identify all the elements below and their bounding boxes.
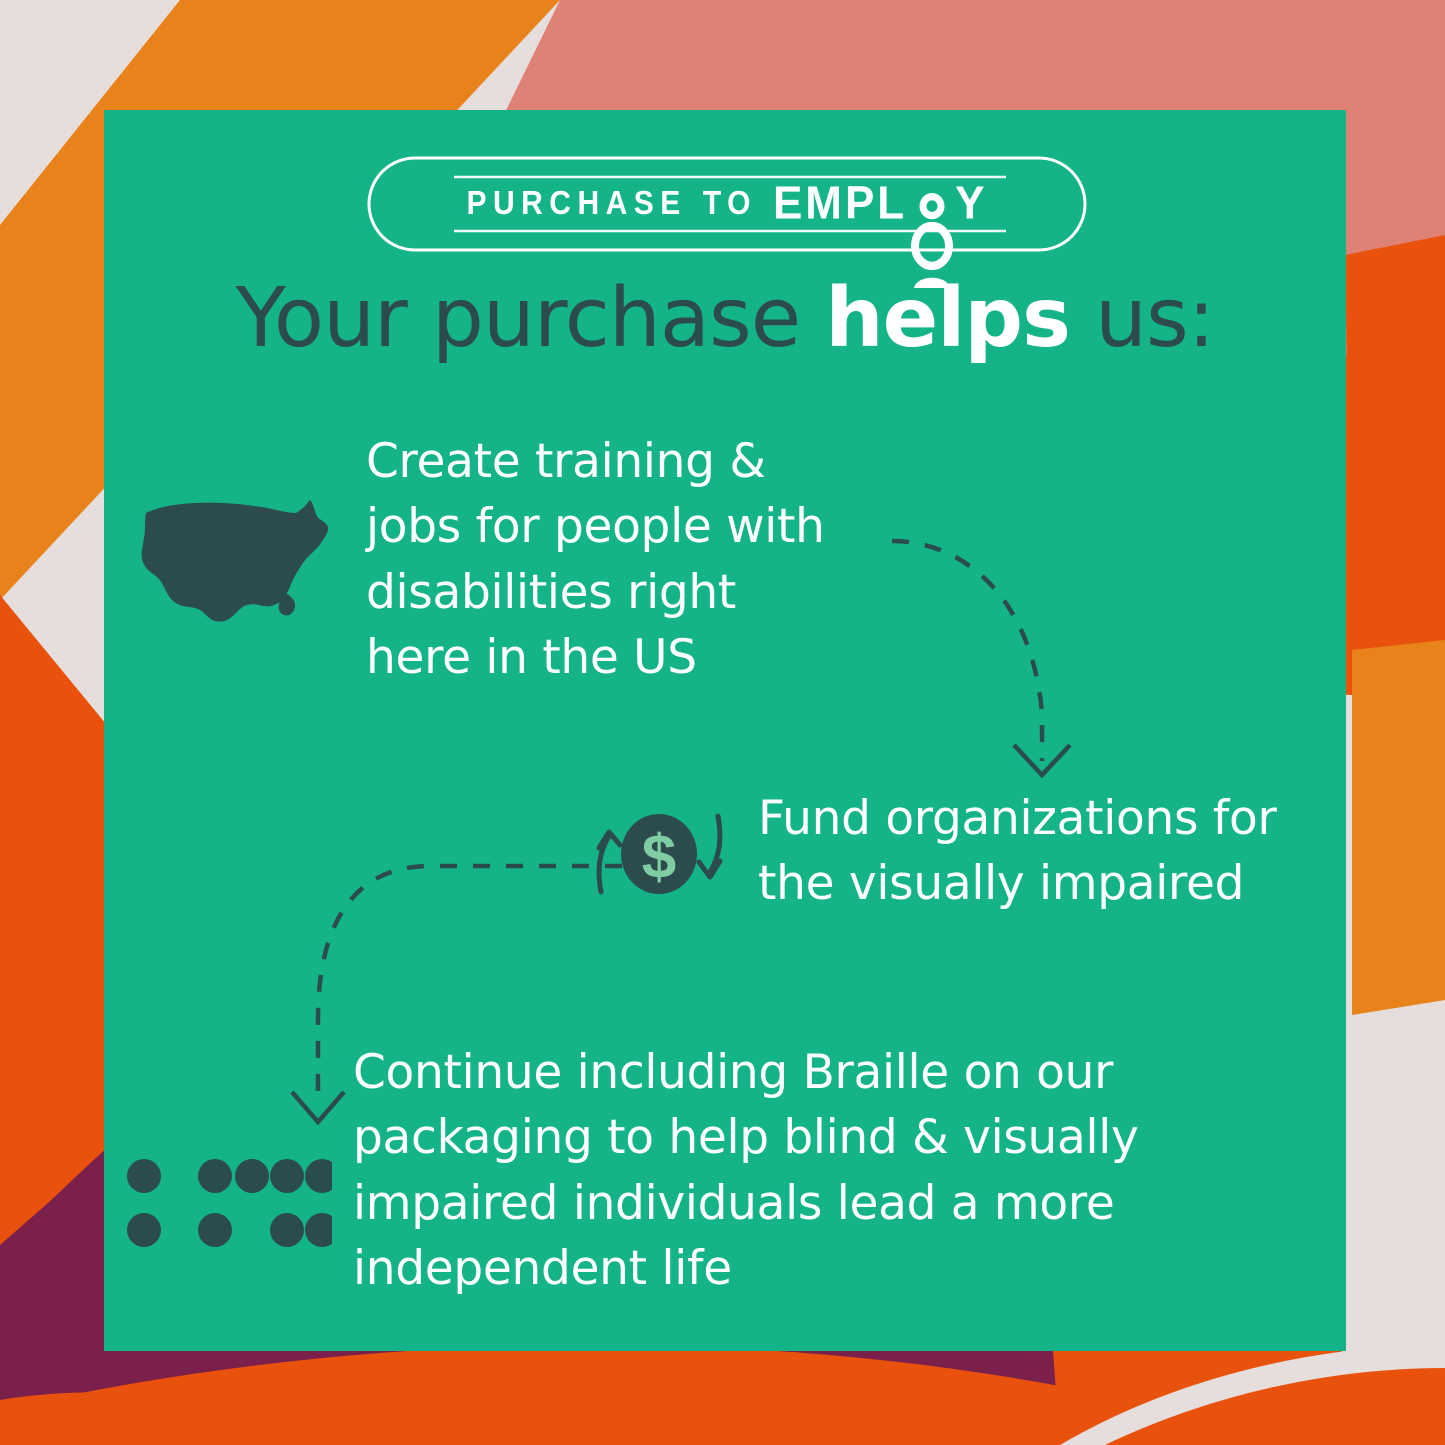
badge-word-purchase: PURCHASE xyxy=(466,185,686,223)
block-3-text: Continue including Braille on our packag… xyxy=(353,1040,1183,1301)
braille-dots-icon xyxy=(122,1150,332,1260)
main-green-card: PURCHASE TO EMPL Y Your purchase helps u… xyxy=(104,110,1346,1351)
stripe-orange-right xyxy=(1352,640,1445,1018)
infographic-canvas: PURCHASE TO EMPL Y Your purchase helps u… xyxy=(0,0,1445,1445)
headline-part-3: us: xyxy=(1070,271,1214,366)
stripe-deeporange-right2 xyxy=(1345,235,1445,655)
purchase-to-employ-badge: PURCHASE TO EMPL Y xyxy=(366,155,1088,253)
us-map-icon xyxy=(136,493,341,633)
badge-wordmark: PURCHASE TO EMPL Y xyxy=(366,155,1088,253)
badge-word-to: TO xyxy=(703,185,757,223)
badge-word-employ: EMPL Y xyxy=(773,178,988,231)
dashed-arrow-down-right xyxy=(884,503,1144,803)
svg-text:$: $ xyxy=(642,823,676,892)
headline-part-2: helps xyxy=(825,271,1070,366)
block-1-text: Create training & jobs for people with d… xyxy=(366,429,906,690)
headline-part-1: Your purchase xyxy=(236,271,826,366)
block-2-text: Fund organizations for the visually impa… xyxy=(758,786,1318,917)
stripe-beige-right xyxy=(1352,1000,1445,1375)
page-title: Your purchase helps us: xyxy=(104,278,1346,360)
badge-employ-empl: EMPL xyxy=(773,178,907,229)
